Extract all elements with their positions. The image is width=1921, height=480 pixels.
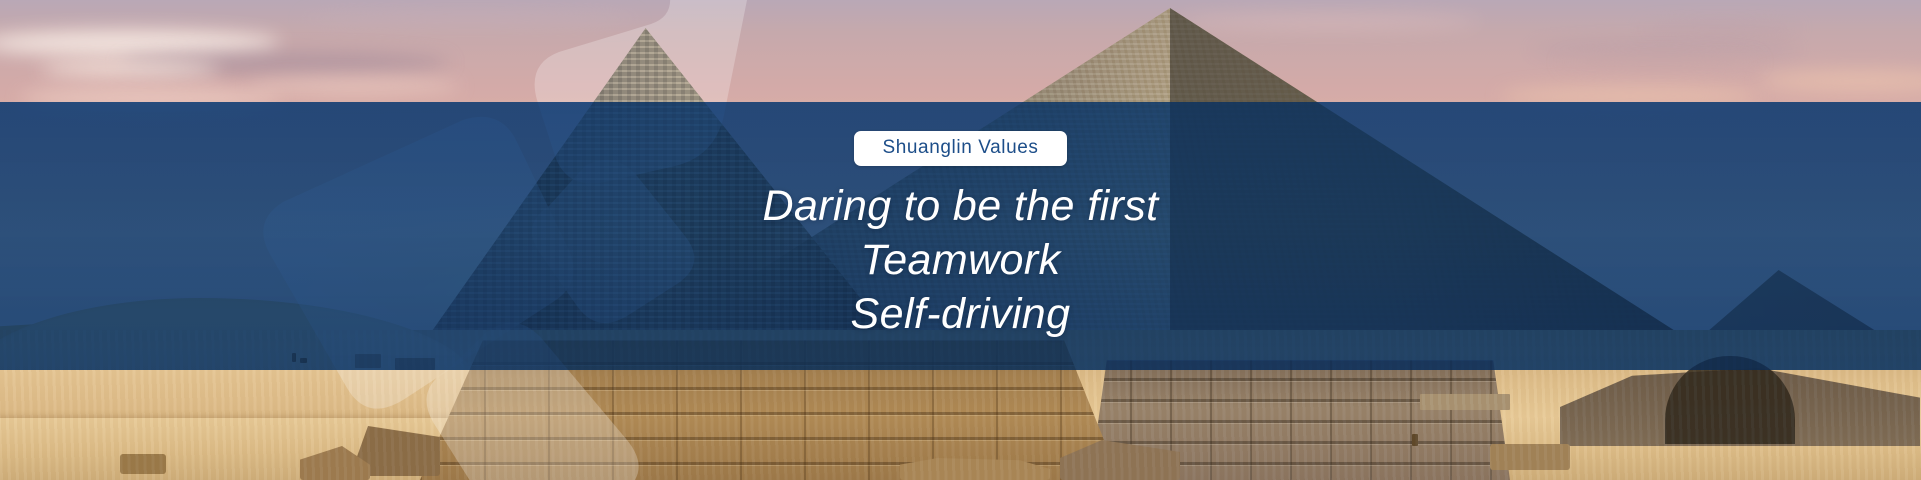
cloud-streak	[1640, 22, 1800, 34]
headline-line-3: Self-driving	[763, 287, 1159, 341]
values-hero-banner: Shuanglin Values Daring to be the first …	[0, 0, 1921, 480]
cloud-streak	[300, 12, 640, 26]
cloud-streak	[40, 62, 220, 76]
status-badge-label: Shuanglin Values	[882, 137, 1038, 158]
cloud-streak	[250, 78, 460, 94]
cloud-streak	[1180, 14, 1480, 30]
headline-line-1: Daring to be the first	[763, 179, 1159, 233]
headline-line-2: Teamwork	[763, 233, 1159, 287]
status-badge: Shuanglin Values	[854, 131, 1066, 166]
page-title: Daring to be the first Teamwork Self-dri…	[763, 179, 1159, 342]
cloud-streak	[1560, 56, 1760, 68]
banner-content: Shuanglin Values Daring to be the first …	[0, 102, 1921, 370]
